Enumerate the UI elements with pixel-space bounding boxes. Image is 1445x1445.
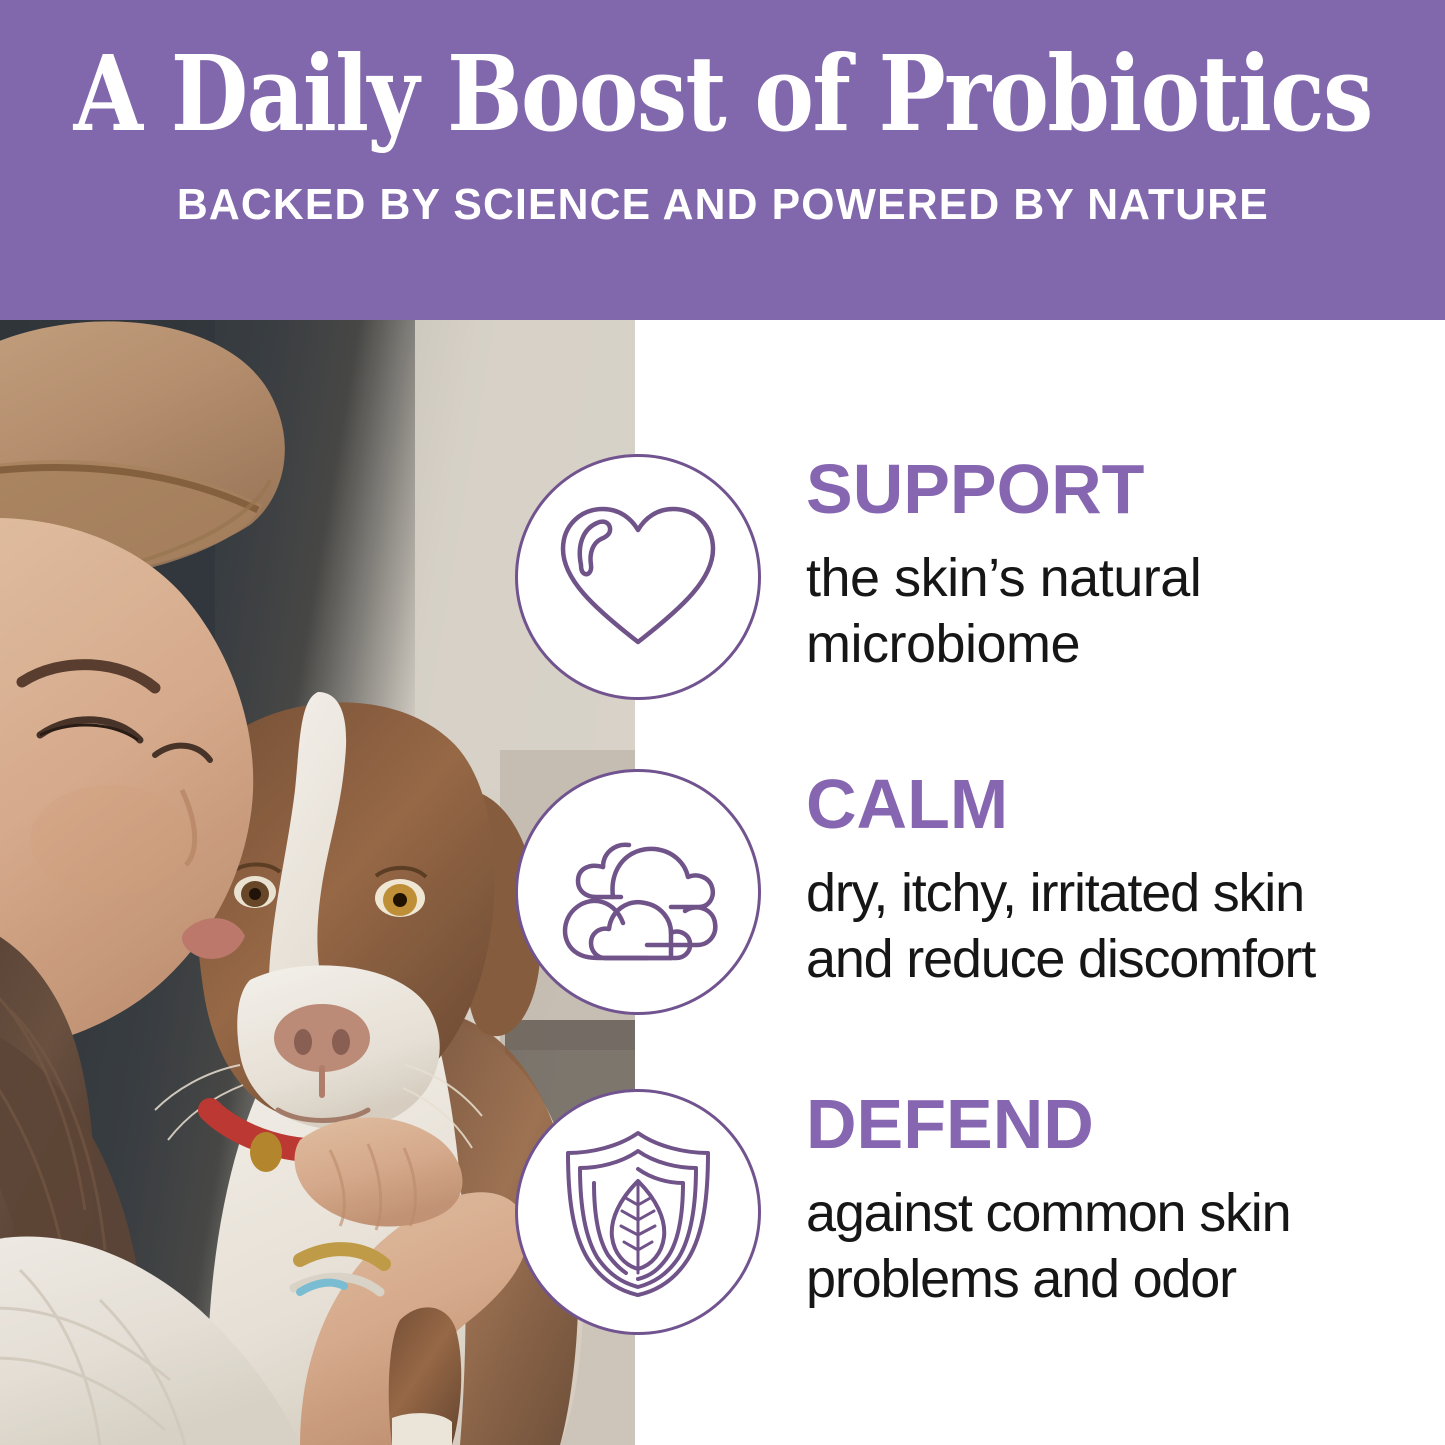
heart-icon	[515, 454, 761, 700]
benefit-desc-line: microbiome	[806, 612, 1426, 678]
page-title: A Daily Boost of Probiotics	[74, 42, 1372, 146]
benefit-title-defend: DEFEND	[806, 1089, 1426, 1159]
clouds-icon	[515, 769, 761, 1015]
benefit-desc-defend: against common skin problems and odor	[806, 1181, 1426, 1313]
benefit-row-defend: DEFEND against common skin problems and …	[0, 1075, 1445, 1375]
benefit-desc-line: the skin’s natural	[806, 546, 1426, 612]
benefit-text-support: SUPPORT the skin’s natural microbiome	[806, 440, 1426, 678]
benefit-title-support: SUPPORT	[806, 454, 1426, 524]
header-band: A Daily Boost of Probiotics BACKED BY SC…	[0, 0, 1445, 320]
benefit-title-calm: CALM	[806, 769, 1426, 839]
benefit-desc-support: the skin’s natural microbiome	[806, 546, 1426, 678]
page-subtitle: BACKED BY SCIENCE AND POWERED BY NATURE	[177, 180, 1269, 230]
benefit-desc-line: and reduce discomfort	[806, 927, 1426, 993]
benefit-desc-line: dry, itchy, irritated skin	[806, 861, 1426, 927]
benefit-text-calm: CALM dry, itchy, irritated skin and redu…	[806, 755, 1426, 993]
benefit-row-support: SUPPORT the skin’s natural microbiome	[0, 440, 1445, 740]
benefit-desc-line: problems and odor	[806, 1247, 1426, 1313]
shield-leaf-icon	[515, 1089, 761, 1335]
benefit-desc-calm: dry, itchy, irritated skin and reduce di…	[806, 861, 1426, 993]
benefit-desc-line: against common skin	[806, 1181, 1426, 1247]
benefit-row-calm: CALM dry, itchy, irritated skin and redu…	[0, 755, 1445, 1055]
benefit-text-defend: DEFEND against common skin problems and …	[806, 1075, 1426, 1313]
probiotics-benefits-poster: A Daily Boost of Probiotics BACKED BY SC…	[0, 0, 1445, 1445]
